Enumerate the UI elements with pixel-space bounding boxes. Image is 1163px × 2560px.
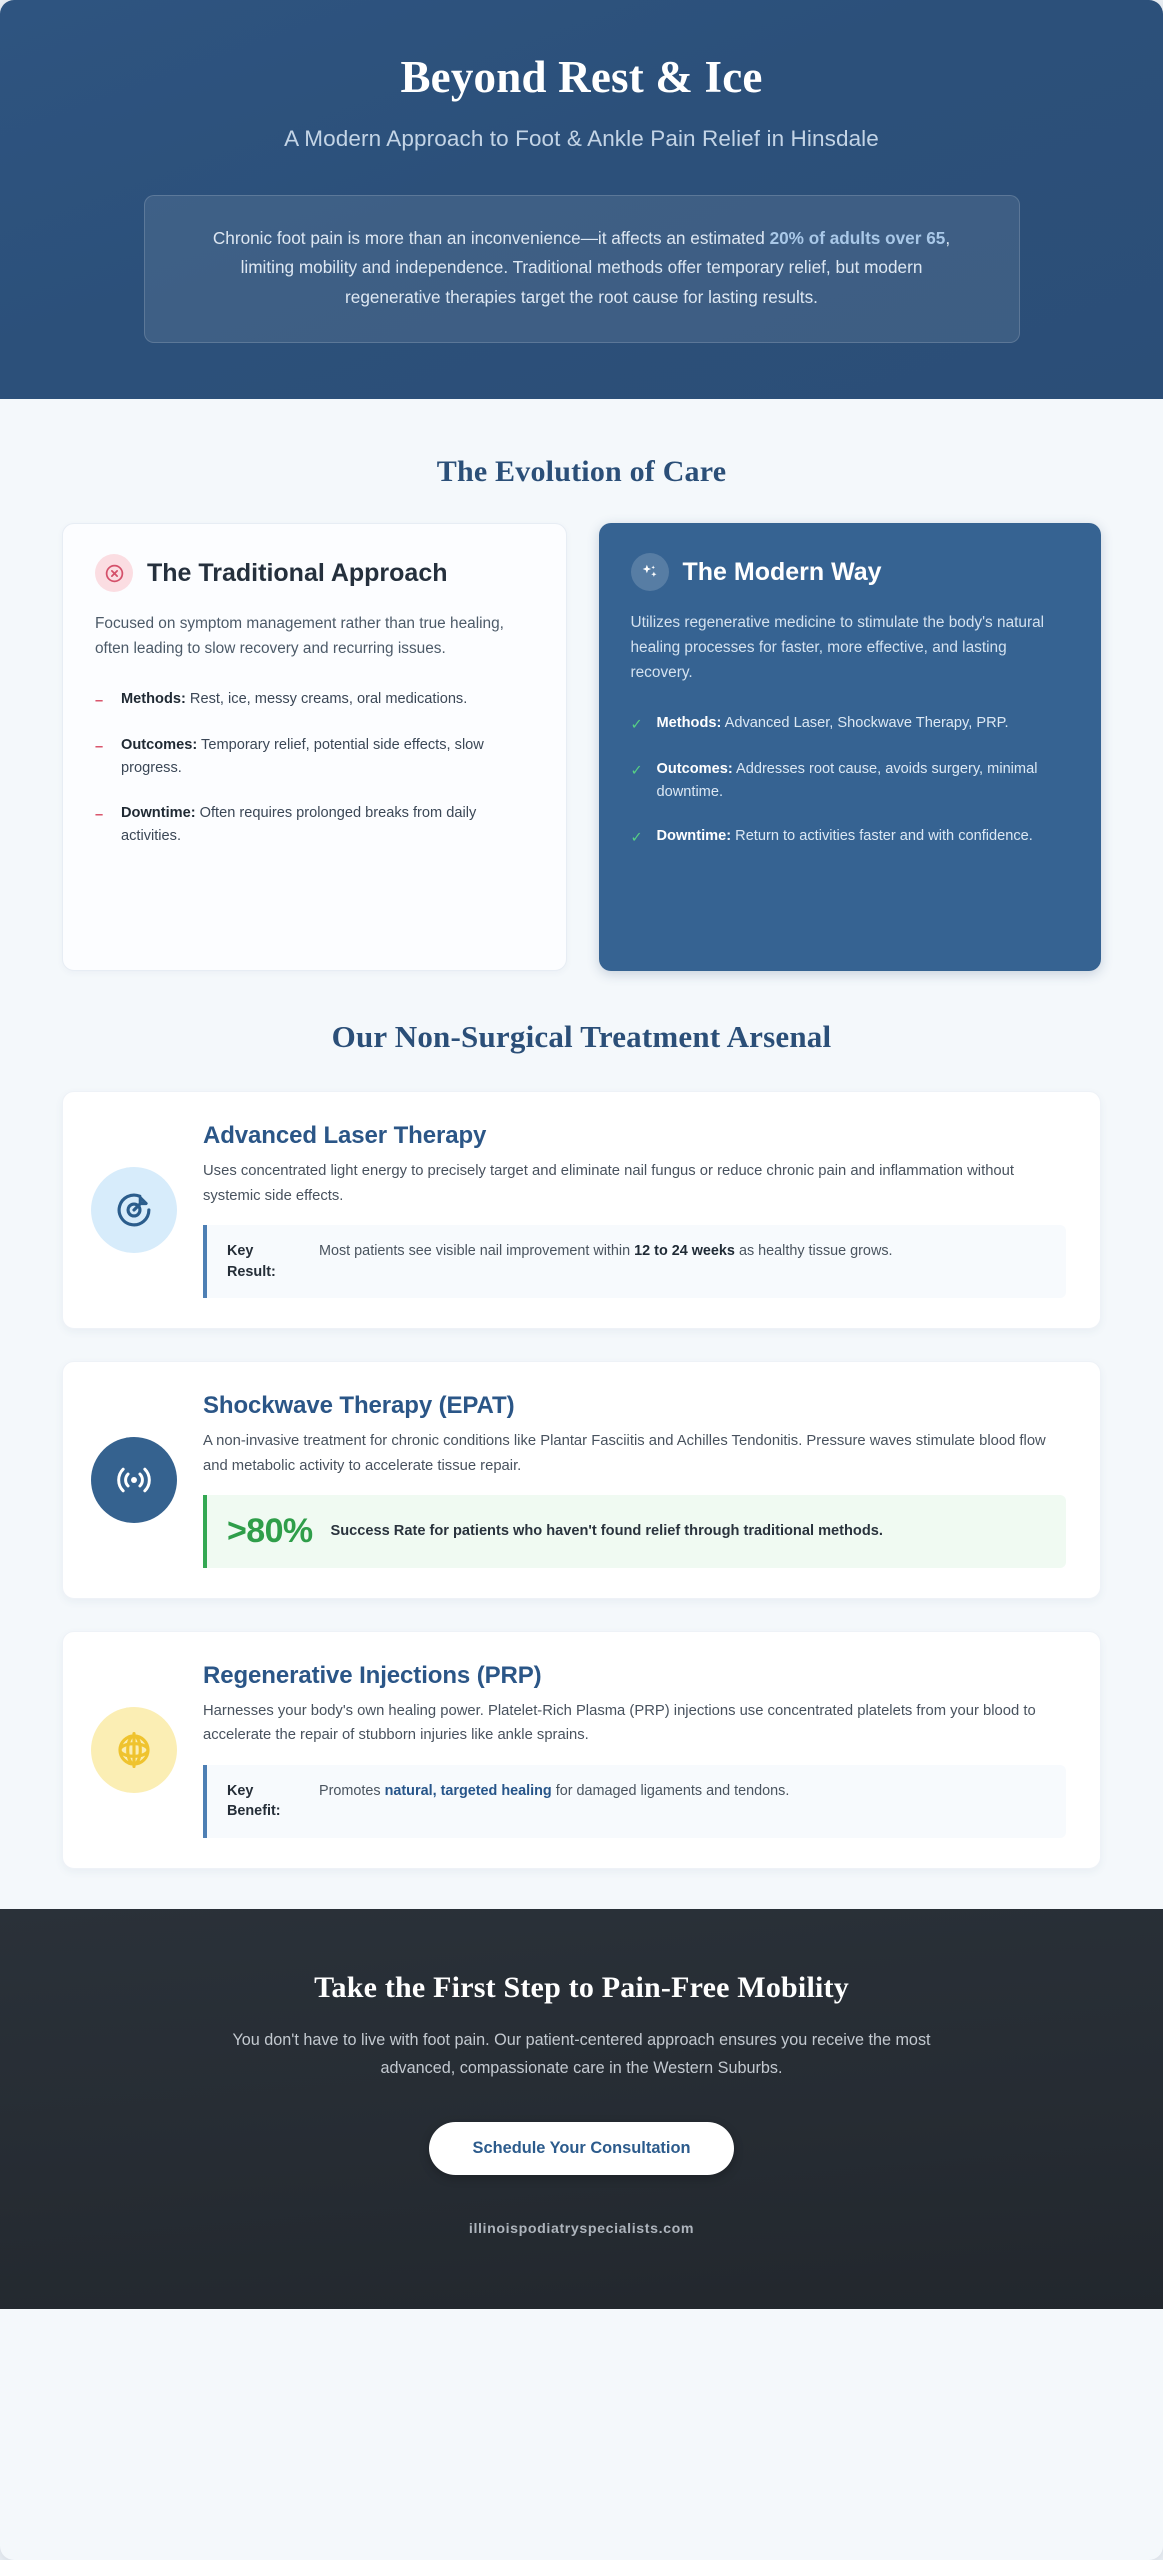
list-item: ✓ Downtime: Return to activities faster … (631, 825, 1070, 850)
infographic-page: Beyond Rest & Ice A Modern Approach to F… (0, 0, 1163, 2560)
evolution-section: The Evolution of Care The Traditional Ap… (0, 455, 1163, 971)
hero-callout-box: Chronic foot pain is more than an inconv… (144, 195, 1020, 344)
card-header: The Traditional Approach (95, 554, 534, 592)
point-body: Return to activities faster and with con… (731, 828, 1033, 844)
point-label: Downtime: (657, 828, 732, 844)
laser-target-icon (91, 1167, 177, 1253)
dash-marker-icon: – (95, 688, 110, 713)
sphere-grid-icon (91, 1707, 177, 1793)
point-label: Outcomes: (657, 761, 733, 777)
treatment-body: Regenerative Injections (PRP) Harnesses … (203, 1662, 1066, 1838)
callout-text-pre: Chronic foot pain is more than an inconv… (213, 228, 770, 248)
point-text: Outcomes: Temporary relief, potential si… (121, 734, 534, 780)
treatment-card-prp: Regenerative Injections (PRP) Harnesses … (62, 1631, 1101, 1869)
list-item: ✓ Outcomes: Addresses root cause, avoids… (631, 758, 1070, 804)
dash-marker-icon: – (95, 802, 110, 848)
key-result-text: Most patients see visible nail improveme… (319, 1241, 1048, 1263)
key-benefit-box: Key Benefit: Promotes natural, targeted … (203, 1765, 1066, 1838)
card-traditional-approach: The Traditional Approach Focused on symp… (62, 523, 567, 971)
callout-highlight: 20% of adults over 65 (770, 228, 946, 248)
key-text-pre: Most patients see visible nail improveme… (319, 1243, 634, 1259)
point-body: Advanced Laser, Shockwave Therapy, PRP. (721, 715, 1008, 731)
treatment-body: Advanced Laser Therapy Uses concentrated… (203, 1122, 1066, 1298)
key-text-post: as healthy tissue grows. (735, 1243, 893, 1259)
point-text: Outcomes: Addresses root cause, avoids s… (657, 758, 1070, 804)
treatment-description: A non-invasive treatment for chronic con… (203, 1429, 1066, 1478)
dash-marker-icon: – (95, 734, 110, 780)
page-subtitle: A Modern Approach to Foot & Ankle Pain R… (60, 126, 1103, 152)
cta-section: Take the First Step to Pain-Free Mobilit… (0, 1909, 1163, 2310)
card-title: The Traditional Approach (147, 559, 448, 589)
traditional-points-list: – Methods: Rest, ice, messy creams, oral… (95, 688, 534, 847)
key-benefit-label: Key Benefit: (227, 1781, 305, 1822)
success-rate-text: Success Rate for patients who haven't fo… (331, 1521, 883, 1542)
treatment-title: Regenerative Injections (PRP) (203, 1662, 1066, 1690)
success-rate-value: >80% (227, 1512, 313, 1551)
list-item: – Downtime: Often requires prolonged bre… (95, 802, 534, 848)
arsenal-section: Our Non-Surgical Treatment Arsenal Advan… (0, 1019, 1163, 1868)
treatment-description: Uses concentrated light energy to precis… (203, 1159, 1066, 1208)
arsenal-section-title: Our Non-Surgical Treatment Arsenal (62, 1019, 1101, 1055)
card-header: The Modern Way (631, 553, 1070, 591)
check-marker-icon: ✓ (631, 758, 646, 804)
treatment-card-shockwave: Shockwave Therapy (EPAT) A non-invasive … (62, 1361, 1101, 1599)
key-text-pre: Promotes (319, 1783, 385, 1799)
key-text-bold: 12 to 24 weeks (634, 1243, 735, 1259)
evolution-section-title: The Evolution of Care (62, 455, 1101, 489)
point-label: Outcomes: (121, 737, 197, 753)
point-text: Downtime: Return to activities faster an… (657, 825, 1033, 850)
card-intro: Utilizes regenerative medicine to stimul… (631, 611, 1070, 686)
point-text: Downtime: Often requires prolonged break… (121, 802, 534, 848)
point-label: Downtime: (121, 805, 196, 821)
card-intro: Focused on symptom management rather tha… (95, 612, 534, 662)
radio-waves-icon (91, 1437, 177, 1523)
hero-callout-text: Chronic foot pain is more than an inconv… (191, 224, 973, 313)
sparkles-icon (631, 553, 669, 591)
key-text-post: for damaged ligaments and tendons. (552, 1783, 790, 1799)
cta-subtitle: You don't have to live with foot pain. O… (197, 2027, 967, 2083)
card-title: The Modern Way (683, 558, 882, 588)
key-benefit-text: Promotes natural, targeted healing for d… (319, 1781, 1048, 1803)
treatment-title: Advanced Laser Therapy (203, 1122, 1066, 1150)
point-text: Methods: Rest, ice, messy creams, oral m… (121, 688, 467, 713)
key-result-box: Key Result: Most patients see visible na… (203, 1225, 1066, 1298)
website-domain: illinoispodiatryspecialists.com (60, 2221, 1103, 2237)
list-item: – Methods: Rest, ice, messy creams, oral… (95, 688, 534, 713)
treatment-description: Harnesses your body's own healing power.… (203, 1699, 1066, 1748)
success-rate-box: >80% Success Rate for patients who haven… (203, 1495, 1066, 1568)
point-label: Methods: (121, 691, 186, 707)
circle-x-icon (95, 554, 133, 592)
treatment-card-laser: Advanced Laser Therapy Uses concentrated… (62, 1091, 1101, 1329)
key-result-label: Key Result: (227, 1241, 305, 1282)
hero-section: Beyond Rest & Ice A Modern Approach to F… (0, 0, 1163, 399)
treatment-body: Shockwave Therapy (EPAT) A non-invasive … (203, 1392, 1066, 1568)
key-text-bold: natural, targeted healing (385, 1783, 552, 1799)
page-title: Beyond Rest & Ice (60, 52, 1103, 104)
cta-title: Take the First Step to Pain-Free Mobilit… (60, 1971, 1103, 2005)
point-text: Methods: Advanced Laser, Shockwave Thera… (657, 712, 1009, 737)
card-modern-way: The Modern Way Utilizes regenerative med… (599, 523, 1102, 971)
check-marker-icon: ✓ (631, 712, 646, 737)
treatment-title: Shockwave Therapy (EPAT) (203, 1392, 1066, 1420)
list-item: – Outcomes: Temporary relief, potential … (95, 734, 534, 780)
modern-points-list: ✓ Methods: Advanced Laser, Shockwave The… (631, 712, 1070, 850)
check-marker-icon: ✓ (631, 825, 646, 850)
list-item: ✓ Methods: Advanced Laser, Shockwave The… (631, 712, 1070, 737)
comparison-cards: The Traditional Approach Focused on symp… (62, 523, 1101, 971)
point-label: Methods: (657, 715, 722, 731)
point-body: Rest, ice, messy creams, oral medication… (186, 691, 467, 707)
schedule-consultation-button[interactable]: Schedule Your Consultation (429, 2122, 735, 2175)
